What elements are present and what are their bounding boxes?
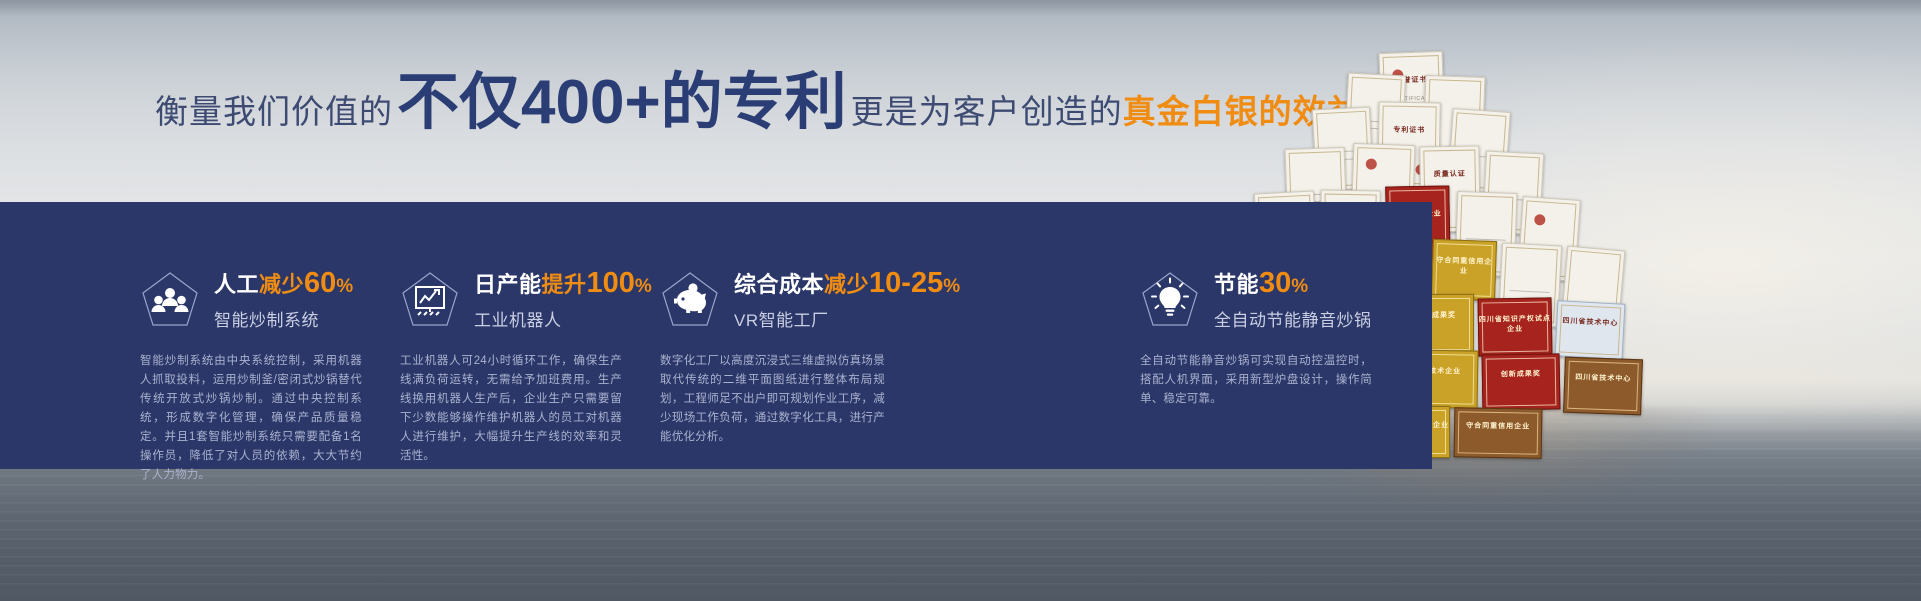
certificate-title: 专利证书 xyxy=(1379,124,1439,135)
certificate-title: 创新成果奖 xyxy=(1483,368,1559,379)
feature-subtitle-0: 智能炒制系统 xyxy=(214,306,354,331)
feature-metric: 10-25 xyxy=(869,267,943,299)
certificate-item: 守合同重信用企业 xyxy=(1454,407,1543,459)
certificate-item: 守合同重信用企业 xyxy=(1431,239,1497,301)
certificate-title: 守合同重信用企业 xyxy=(1433,255,1496,277)
certificate-item: 四川省技术中心 xyxy=(1555,300,1626,359)
certificate-item: 四川省知识产权试点企业 xyxy=(1477,297,1552,356)
feature-title-accent: 提升 xyxy=(542,272,587,297)
feature-metric: 30 xyxy=(1259,267,1291,299)
headline-lead: 衡量我们价值的 xyxy=(155,85,393,133)
feature-subtitle-2: VR智能工厂 xyxy=(734,306,961,331)
feature-block-2: 综合成本减少10-25% VR智能工厂 数字化工厂以高度沉浸式三维虚拟仿真场景取… xyxy=(660,202,990,469)
certificate-item: 创新成果奖 xyxy=(1482,353,1561,410)
headline-emphasis: 不仅400+的专利 xyxy=(397,72,847,134)
feature-unit: % xyxy=(943,276,960,297)
feature-body-0: 智能炒制系统由中央系统控制，采用机器人抓取投料，运用炒制釜/密闭式炒锅替代传统开… xyxy=(140,352,362,485)
feature-title-prefix: 日产能 xyxy=(474,272,542,297)
piggy-bank-icon xyxy=(660,270,720,328)
certificate-title: 四川省知识产权试点企业 xyxy=(1479,313,1551,334)
feature-title-accent: 减少 xyxy=(824,272,869,297)
feature-block-1: 日产能提升100% 工业机器人 工业机器人可24小时循环工作，确保生产线满负荷运… xyxy=(400,202,700,469)
headline-middle: 更是为客户创造的 xyxy=(851,85,1123,133)
feature-title-0: 人工减少60% xyxy=(214,267,354,300)
feature-title-1: 日产能提升100% xyxy=(474,267,652,300)
feature-block-3: 节能30% 全自动节能静音炒锅 全自动节能静音炒锅可实现自动控温控时，搭配人机界… xyxy=(1140,202,1440,469)
certificate-title: 质量认证 xyxy=(1421,168,1479,179)
lightbulb-icon xyxy=(1140,270,1200,328)
feature-metric: 100 xyxy=(587,267,635,299)
feature-subtitle-1: 工业机器人 xyxy=(474,306,652,331)
feature-title-prefix: 综合成本 xyxy=(734,272,824,297)
feature-title-accent: 减少 xyxy=(259,272,304,297)
feature-block-0: 人工减少60% 智能炒制系统 智能炒制系统由中央系统控制，采用机器人抓取投料，运… xyxy=(140,202,440,469)
feature-unit: % xyxy=(1291,276,1308,297)
feature-body-2: 数字化工厂以高度沉浸式三维虚拟仿真场景取代传统的二维平面图纸进行整体布局规划，工… xyxy=(660,352,885,447)
chart-board-icon xyxy=(400,270,460,328)
feature-panel: 人工减少60% 智能炒制系统 智能炒制系统由中央系统控制，采用机器人抓取投料，运… xyxy=(0,202,1432,469)
feature-subtitle-3: 全自动节能静音炒锅 xyxy=(1214,306,1372,331)
certificate-item: 四川省技术中心 xyxy=(1563,357,1643,416)
people-group-icon xyxy=(140,270,200,328)
feature-unit: % xyxy=(336,276,353,297)
feature-title-prefix: 节能 xyxy=(1214,272,1259,297)
feature-body-1: 工业机器人可24小时循环工作，确保生产线满负荷运转，无需给予加班费用。生产线换用… xyxy=(400,352,622,466)
feature-metric: 60 xyxy=(304,267,336,299)
feature-body-3: 全自动节能静音炒锅可实现自动控温控时，搭配人机界面，采用新型炉盘设计，操作简单、… xyxy=(1140,352,1372,409)
feature-unit: % xyxy=(635,276,652,297)
certificate-title: 守合同重信用企业 xyxy=(1455,421,1541,432)
feature-title-3: 节能30% xyxy=(1214,267,1372,300)
feature-title-2: 综合成本减少10-25% xyxy=(734,267,961,300)
feature-title-prefix: 人工 xyxy=(214,272,259,297)
banner-stage: 衡量我们价值的 不仅400+的专利 更是为客户创造的 真金白银的效益 荣誉证书C… xyxy=(0,0,1921,601)
